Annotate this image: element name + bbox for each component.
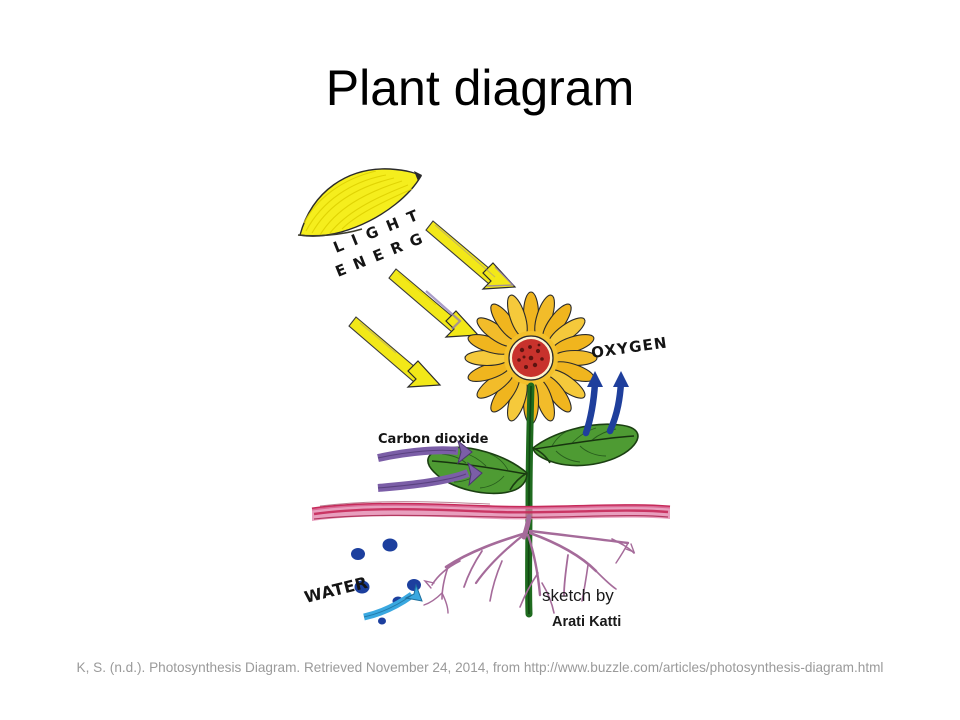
light-energy-arrow-3 — [349, 317, 440, 387]
photosynthesis-diagram-figure[interactable]: L I G H T E N E R G Y — [290, 143, 690, 655]
source-caption: K, S. (n.d.). Photosynthesis Diagram. Re… — [48, 658, 912, 677]
page-title: Plant diagram — [0, 58, 960, 118]
light-energy-arrow-1 — [426, 221, 515, 291]
carbon-dioxide-label: Carbon dioxide — [378, 432, 489, 447]
plant-stem — [529, 386, 531, 614]
soil-line — [312, 502, 670, 521]
water-label: WATER — [302, 573, 369, 607]
sketch-credit-line1: sketch by — [542, 586, 614, 605]
oxygen-label: OXYGEN — [590, 333, 669, 362]
oxygen-arrow-2 — [610, 371, 629, 431]
photosynthesis-diagram-svg: L I G H T E N E R G Y — [290, 143, 690, 655]
sunflower-center — [509, 336, 553, 380]
slide-canvas: Plant diagram L I G H T E N — [0, 0, 960, 720]
sketch-credit-line2: Arati Katti — [552, 614, 621, 630]
oxygen-group: OXYGEN — [586, 333, 669, 433]
sketch-credit: sketch by Arati Katti — [542, 586, 621, 630]
water-group: WATER — [302, 539, 422, 625]
light-energy-arrow-2 — [389, 269, 478, 337]
